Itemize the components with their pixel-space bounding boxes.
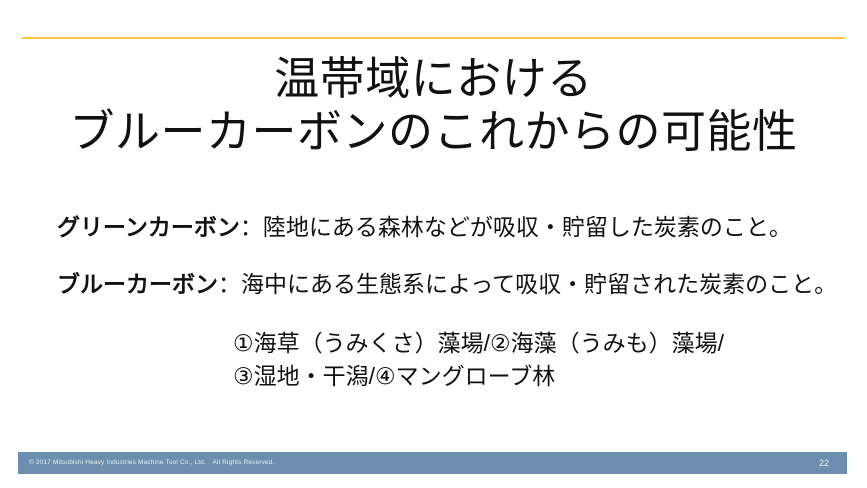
definition-term-green-carbon: グリーンカーボン <box>57 214 240 240</box>
title-line-1: 温帯域における <box>0 52 867 105</box>
definition-list: グリーンカーボン：陸地にある森林などが吸収・貯留した炭素のこと。 ブルーカーボン… <box>57 213 847 299</box>
definition-description-green-carbon: ：陸地にある森林などが吸収・貯留した炭素のこと。 <box>240 214 792 240</box>
page-title: 温帯域における ブルーカーボンのこれからの可能性 <box>0 52 867 158</box>
list-item: ①海草（うみくさ）藻場/②海藻（うみも）藻場/ <box>233 327 724 360</box>
definition-description-blue-carbon: ：海中にある生態系によって吸収・貯留された炭素のこと。 <box>218 271 837 297</box>
definition-blue-carbon: ブルーカーボン：海中にある生態系によって吸収・貯留された炭素のこと。 <box>57 270 847 299</box>
definition-green-carbon: グリーンカーボン：陸地にある森林などが吸収・貯留した炭素のこと。 <box>57 213 847 242</box>
page-number: 22 <box>819 452 829 474</box>
copyright-notice: © 2017 Mitsubishi Heavy Industries Machi… <box>29 452 274 474</box>
slide-canvas: 温帯域における ブルーカーボンのこれからの可能性 グリーンカーボン：陸地にある森… <box>0 0 867 488</box>
list-item: ③湿地・干潟/④マングローブ林 <box>233 360 724 393</box>
blue-carbon-examples-list: ①海草（うみくさ）藻場/②海藻（うみも）藻場/ ③湿地・干潟/④マングローブ林 <box>233 327 724 392</box>
title-line-2: ブルーカーボンのこれからの可能性 <box>0 105 867 158</box>
definition-term-blue-carbon: ブルーカーボン <box>57 271 218 297</box>
footer-bar: © 2017 Mitsubishi Heavy Industries Machi… <box>18 452 847 474</box>
top-accent-rule <box>22 37 845 39</box>
